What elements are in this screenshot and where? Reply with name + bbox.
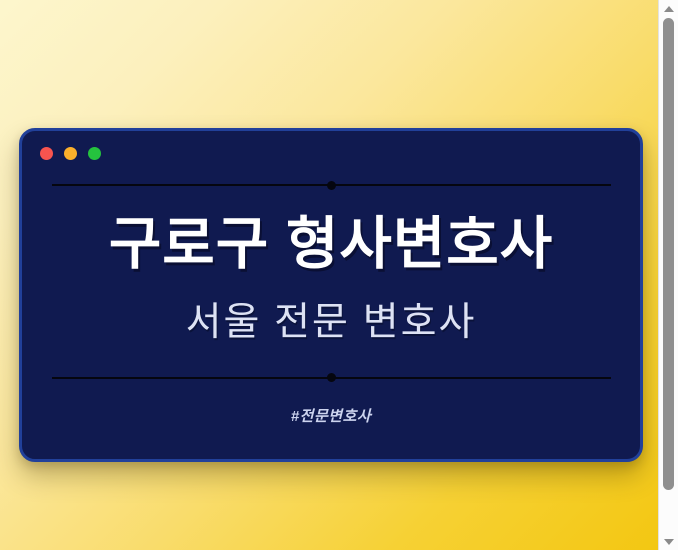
scroll-thumb[interactable] (663, 18, 674, 490)
divider-center-dot-icon (327, 373, 336, 382)
page-subtitle: 서울 전문 변호사 (186, 302, 477, 345)
window-titlebar (40, 147, 101, 160)
page-title: 구로구 형사변호사 (109, 215, 553, 275)
vertical-scrollbar[interactable] (658, 0, 678, 550)
minimize-dot-icon[interactable] (64, 147, 77, 160)
divider-center-dot-icon (327, 181, 336, 190)
scroll-down-button[interactable] (659, 533, 678, 550)
hero-card-wrapper: 구로구 형사변호사 서울 전문 변호사 #전문변호사 (19, 128, 643, 462)
hero-card: 구로구 형사변호사 서울 전문 변호사 #전문변호사 (19, 128, 643, 462)
scroll-up-button[interactable] (659, 0, 678, 17)
scroll-down-arrow-icon (664, 539, 674, 545)
hashtag-label: #전문변호사 (291, 405, 371, 426)
maximize-dot-icon[interactable] (88, 147, 101, 160)
divider-top (52, 180, 611, 190)
page-canvas: 구로구 형사변호사 서울 전문 변호사 #전문변호사 (0, 0, 658, 550)
hero-content: 구로구 형사변호사 서울 전문 변호사 #전문변호사 (22, 171, 640, 459)
scroll-up-arrow-icon (664, 6, 674, 12)
close-dot-icon[interactable] (40, 147, 53, 160)
divider-bottom (52, 373, 611, 383)
